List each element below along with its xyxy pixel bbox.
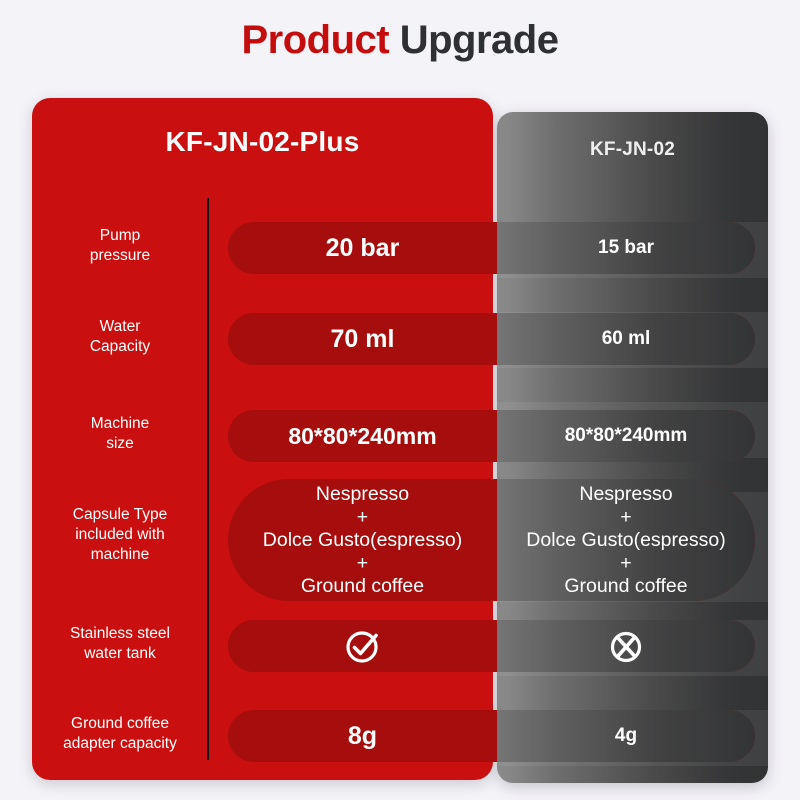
value-standard: 80*80*240mm: [497, 410, 755, 462]
row-value-pill: 80*80*240mm 80*80*240mm: [228, 410, 755, 462]
row-value-pill: Nespresso + Dolce Gusto(espresso) + Grou…: [228, 479, 755, 601]
table-row: Machine size 80*80*240mm 80*80*240mm: [0, 410, 800, 462]
table-row: Capsule Type included with machine Nespr…: [0, 479, 800, 601]
table-row: Pump pressure 20 bar 15 bar: [0, 222, 800, 274]
row-label: Ground coffee adapter capacity: [36, 714, 204, 754]
value-standard: 4g: [497, 710, 755, 762]
cross-circle-icon: [606, 626, 646, 666]
value-plus: 20 bar: [228, 222, 497, 274]
value-standard: 15 bar: [497, 222, 755, 274]
comparison-table: KF-JN-02-Plus KF-JN-02 Pump pressure 20 …: [0, 0, 800, 800]
column-header-plus: KF-JN-02-Plus: [32, 126, 493, 158]
row-label: Stainless steel water tank: [36, 624, 204, 664]
row-value-pill: [228, 620, 755, 672]
row-label: Pump pressure: [36, 226, 204, 266]
row-value-pill: 20 bar 15 bar: [228, 222, 755, 274]
row-label: Machine size: [36, 414, 204, 454]
column-header-standard: KF-JN-02: [497, 139, 768, 161]
value-plus: [228, 620, 497, 672]
value-plus: 8g: [228, 710, 497, 762]
row-value-pill: 8g 4g: [228, 710, 755, 762]
table-row: Ground coffee adapter capacity 8g 4g: [0, 710, 800, 762]
value-plus: Nespresso + Dolce Gusto(espresso) + Grou…: [228, 479, 497, 601]
row-value-pill: 70 ml 60 ml: [228, 313, 755, 365]
value-standard: 60 ml: [497, 313, 755, 365]
value-standard: Nespresso + Dolce Gusto(espresso) + Grou…: [497, 479, 755, 601]
row-label: Water Capacity: [36, 317, 204, 357]
value-standard: [497, 620, 755, 672]
value-plus: 70 ml: [228, 313, 497, 365]
row-label: Capsule Type included with machine: [36, 505, 204, 565]
check-circle-icon: [343, 626, 383, 666]
table-row: Stainless steel water tank: [0, 620, 800, 672]
value-plus: 80*80*240mm: [228, 410, 497, 462]
table-row: Water Capacity 70 ml 60 ml: [0, 313, 800, 365]
